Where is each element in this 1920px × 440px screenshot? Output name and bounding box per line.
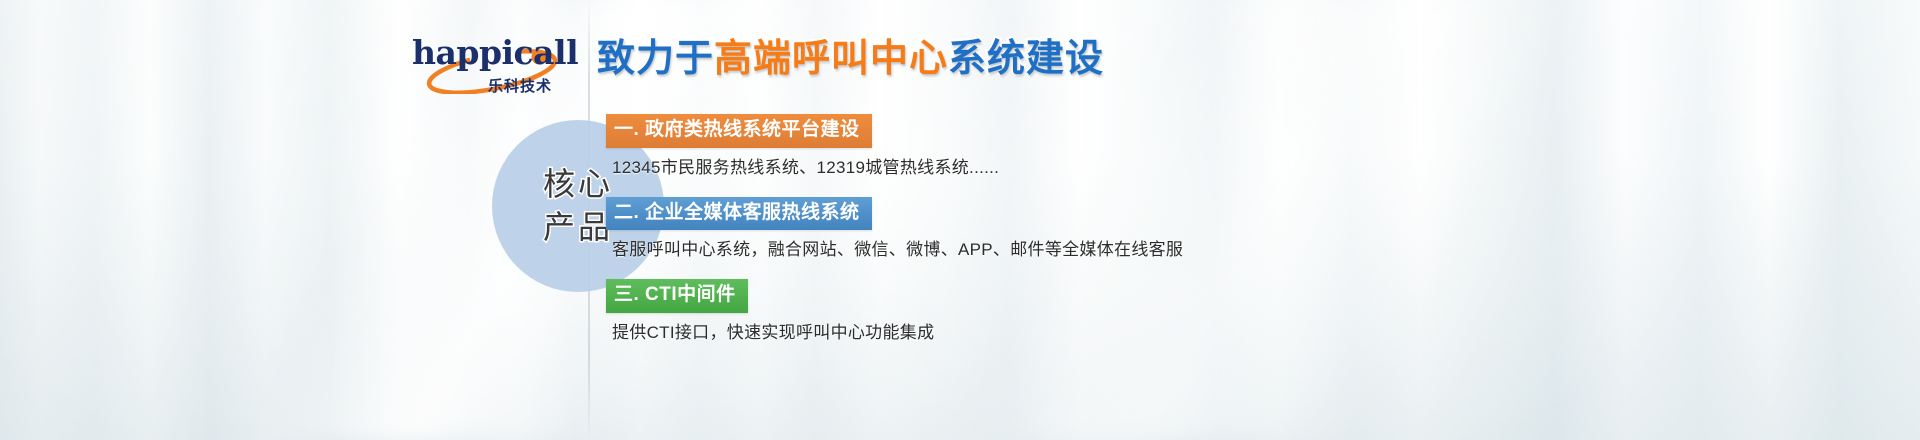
product-title-3: 三. CTI中间件 [606, 279, 748, 313]
product-list: 一. 政府类热线系统平台建设 12345市民服务热线系统、12319城管热线系统… [606, 114, 1506, 345]
product-title-1: 一. 政府类热线系统平台建设 [606, 114, 872, 148]
product-desc-2: 客服呼叫中心系统，融合网站、微信、微博、APP、邮件等全媒体在线客服 [606, 239, 1506, 262]
core-products-line-2: 产品 [543, 206, 613, 249]
brand-logo[interactable]: happicall 乐科技术 [412, 36, 582, 98]
product-desc-1: 12345市民服务热线系统、12319城管热线系统...... [606, 157, 1506, 180]
promo-banner: happicall 乐科技术 致力于高端呼叫中心系统建设 核心 产品 一. 政府… [0, 0, 1920, 440]
headline-part-1: 致力于 [597, 38, 714, 80]
page-title: 致力于高端呼叫中心系统建设 [597, 39, 1104, 81]
headline-part-2: 高端呼叫中心 [714, 38, 948, 80]
product-item-3[interactable]: 三. CTI中间件 提供CTI接口，快速实现呼叫中心功能集成 [606, 279, 1506, 345]
core-products-line-1: 核心 [543, 163, 613, 206]
headline-part-3: 系统建设 [948, 38, 1104, 80]
logo-subtitle: 乐科技术 [488, 75, 552, 96]
product-item-1[interactable]: 一. 政府类热线系统平台建设 12345市民服务热线系统、12319城管热线系统… [606, 114, 1506, 180]
logo-wordmark: happicall [412, 36, 578, 69]
product-item-2[interactable]: 二. 企业全媒体客服热线系统 客服呼叫中心系统，融合网站、微信、微博、APP、邮… [606, 197, 1506, 263]
product-desc-3: 提供CTI接口，快速实现呼叫中心功能集成 [606, 322, 1506, 345]
product-title-2: 二. 企业全媒体客服热线系统 [606, 197, 872, 231]
